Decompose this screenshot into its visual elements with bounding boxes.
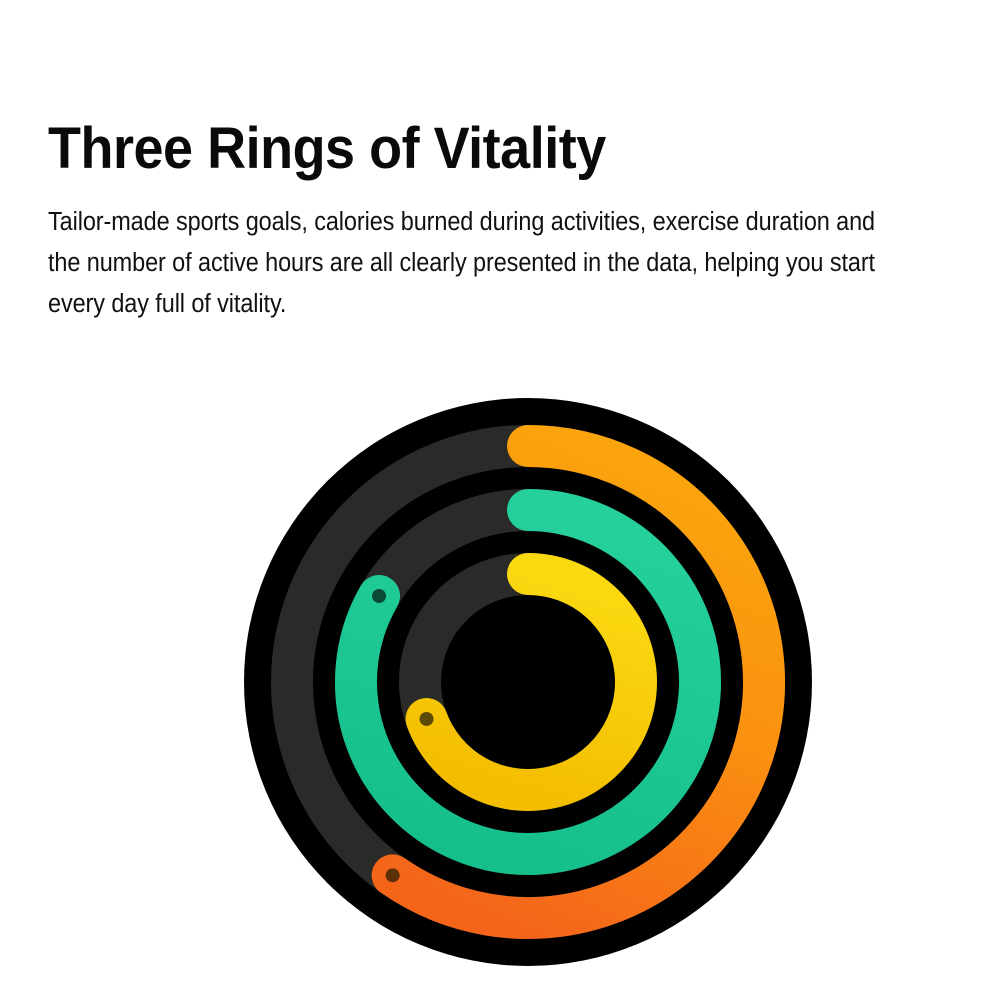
page-root: Three Rings of Vitality Tailor-made spor…: [0, 0, 1000, 1000]
ring-cap-dot-exercise: [372, 589, 386, 603]
ring-cap-dot-stand: [420, 712, 434, 726]
intro-text-block: Three Rings of Vitality Tailor-made spor…: [48, 118, 908, 325]
activity-rings-chart: [244, 398, 812, 966]
activity-rings-figure: [244, 398, 812, 966]
page-description: Tailor-made sports goals, calories burne…: [48, 180, 908, 325]
ring-center-hole: [464, 618, 592, 746]
ring-cap-dot-move: [386, 868, 400, 882]
page-title: Three Rings of Vitality: [48, 118, 848, 180]
